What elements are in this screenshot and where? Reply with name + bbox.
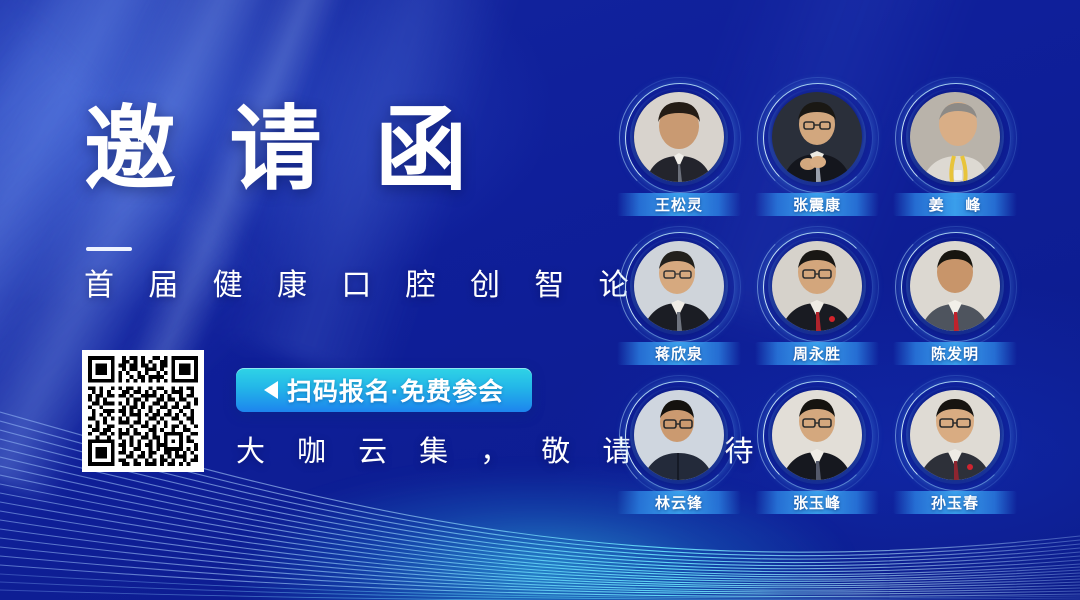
portrait-photo-icon: [772, 390, 862, 480]
portrait-photo-icon: [910, 241, 1000, 331]
speaker-name: 周永胜: [793, 343, 841, 364]
portrait-photo-icon: [772, 241, 862, 331]
speaker-nameplate: 张玉峰: [755, 491, 879, 514]
portrait-photo-icon: [772, 92, 862, 182]
portrait-photo-icon: [634, 92, 724, 182]
speaker-nameplate: 蒋欣泉: [617, 342, 741, 365]
invitation-poster: 邀 请 函 首 届 健 康 口 腔 创 智 论 坛: [0, 0, 1080, 600]
speaker-nameplate: 张震康: [755, 193, 879, 216]
speaker-card[interactable]: 张玉峰: [750, 386, 884, 514]
speaker-nameplate: 孙玉春: [893, 491, 1017, 514]
scan-register-button-label: 扫码报名·免费参会: [287, 372, 504, 408]
qr-code-icon[interactable]: [82, 350, 204, 472]
speaker-nameplate: 周永胜: [755, 342, 879, 365]
speaker-nameplate: 王松灵: [617, 193, 741, 216]
speaker-name: 孙玉春: [931, 492, 979, 513]
speaker-name: 张玉峰: [793, 492, 841, 513]
speaker-name: 林云锋: [655, 492, 703, 513]
speaker-card[interactable]: 姜 峰: [888, 88, 1022, 216]
speaker-nameplate: 姜 峰: [893, 193, 1017, 216]
speaker-grid: 王松灵 张震康: [612, 88, 1016, 514]
speaker-name: 姜 峰: [929, 194, 982, 215]
left-content-panel: 邀 请 函 首 届 健 康 口 腔 创 智 论 坛: [0, 0, 600, 600]
speaker-nameplate: 陈发明: [893, 342, 1017, 365]
portrait-photo-icon: [910, 92, 1000, 182]
speaker-name: 张震康: [793, 194, 841, 215]
speaker-name: 王松灵: [655, 194, 703, 215]
portrait-photo-icon: [910, 390, 1000, 480]
qr-code-pattern: [88, 356, 198, 466]
scan-register-button[interactable]: 扫码报名·免费参会: [236, 368, 532, 412]
speaker-card[interactable]: 陈发明: [888, 237, 1022, 365]
title-divider-icon: [86, 247, 132, 251]
speaker-nameplate: 林云锋: [617, 491, 741, 514]
speaker-name: 蒋欣泉: [655, 343, 703, 364]
speaker-name: 陈发明: [931, 343, 979, 364]
speaker-card[interactable]: 王松灵: [612, 88, 746, 216]
speaker-card[interactable]: 林云锋: [612, 386, 746, 514]
speaker-card[interactable]: 周永胜: [750, 237, 884, 365]
portrait-photo-icon: [634, 390, 724, 480]
speaker-card[interactable]: 孙玉春: [888, 386, 1022, 514]
speaker-card[interactable]: 张震康: [750, 88, 884, 216]
speaker-card[interactable]: 蒋欣泉: [612, 237, 746, 365]
left-triangle-icon: [264, 381, 278, 399]
page-title: 邀 请 函: [84, 104, 481, 196]
portrait-photo-icon: [634, 241, 724, 331]
